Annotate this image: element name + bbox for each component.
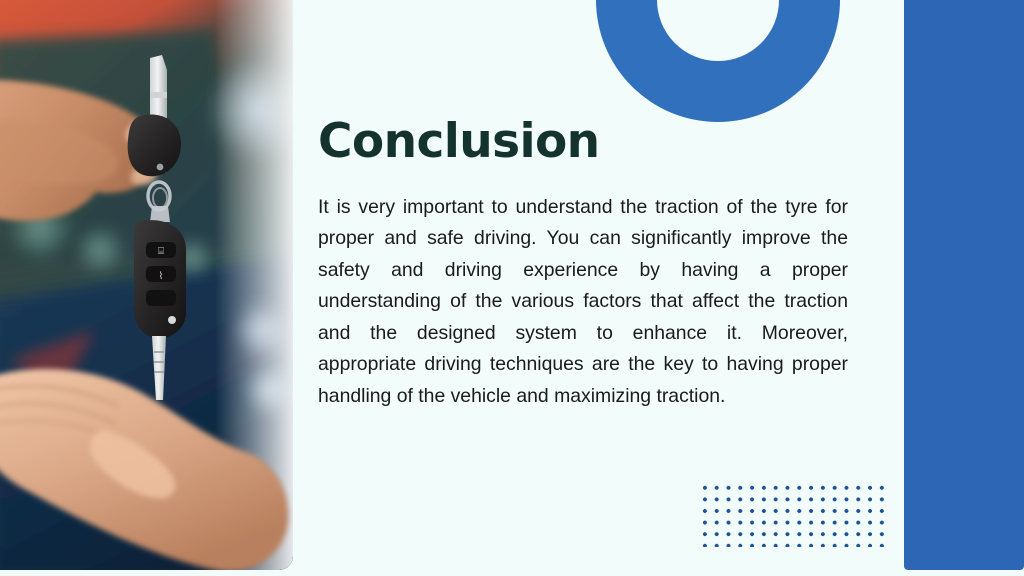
car-key-handover-photo: ⌸ ⌇ bbox=[0, 0, 293, 570]
blue-side-bar-decoration bbox=[904, 0, 1024, 570]
page-title: Conclusion bbox=[318, 118, 848, 166]
presentation-slide: ⌸ ⌇ Conclusion It is very important to u… bbox=[0, 0, 1024, 576]
photo-illustration: ⌸ ⌇ bbox=[0, 0, 293, 570]
svg-text:⌇: ⌇ bbox=[159, 271, 164, 282]
body-paragraph: It is very important to understand the t… bbox=[318, 192, 848, 412]
blue-dot-grid-decoration bbox=[698, 481, 884, 547]
slide-content: Conclusion It is very important to under… bbox=[318, 118, 848, 412]
svg-text:⌸: ⌸ bbox=[158, 246, 164, 257]
